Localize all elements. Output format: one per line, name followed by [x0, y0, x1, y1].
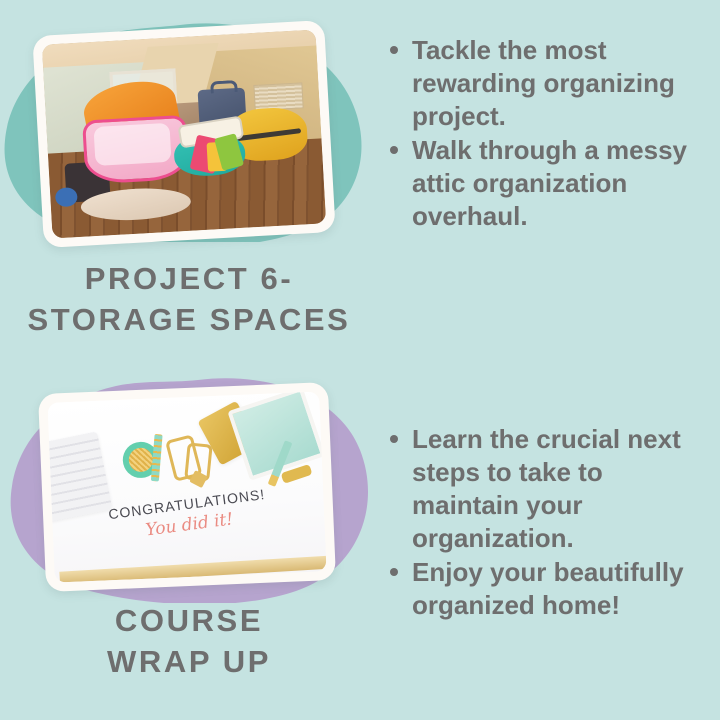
- list-item: Enjoy your beautifully organized home!: [384, 556, 714, 622]
- course-overview-slide: PROJECT 6- STORAGE SPACES Tackle the mos…: [0, 0, 720, 720]
- caption-course-wrap-up-line2: WRAP UP: [0, 641, 378, 682]
- bullet-list-course-wrap-up: Learn the crucial next steps to take to …: [384, 423, 714, 623]
- attic-photo: [42, 30, 326, 239]
- caption-project-6-line1: PROJECT 6-: [0, 258, 378, 299]
- caption-project-6: PROJECT 6- STORAGE SPACES: [0, 258, 378, 340]
- caption-course-wrap-up-line1: COURSE: [0, 600, 378, 641]
- caption-course-wrap-up: COURSE WRAP UP: [0, 600, 378, 682]
- congratulations-photo: CONGRATULATIONS! You did it!: [47, 391, 326, 582]
- list-item: Learn the crucial next steps to take to …: [384, 423, 714, 555]
- caption-project-6-line2: STORAGE SPACES: [0, 299, 378, 340]
- congratulations-photo-card: CONGRATULATIONS! You did it!: [38, 382, 336, 592]
- attic-vent-icon: [253, 83, 303, 111]
- list-item: Tackle the most rewarding organizing pro…: [384, 34, 714, 133]
- list-item: Walk through a messy attic organization …: [384, 134, 714, 233]
- attic-photo-card: [32, 20, 335, 248]
- bullet-list-project-6: Tackle the most rewarding organizing pro…: [384, 34, 714, 234]
